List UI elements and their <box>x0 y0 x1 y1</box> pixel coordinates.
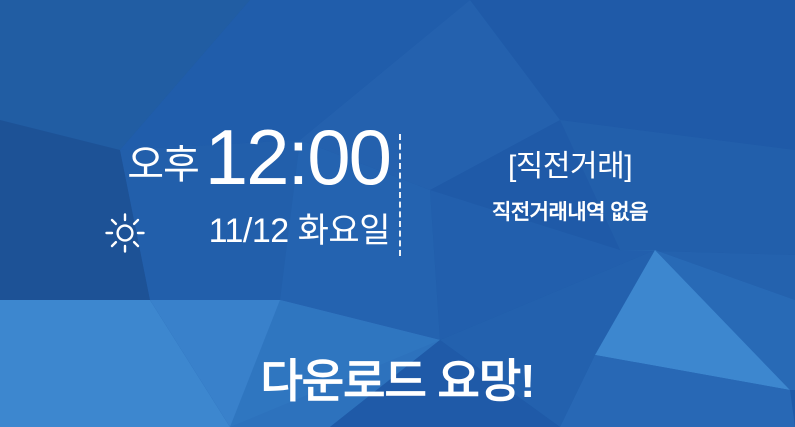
recent-trade-panel[interactable]: [직전거래] 직전거래내역 없음 <box>420 150 720 260</box>
content-layer: 오후 12:00 11/ <box>0 0 795 427</box>
clock-widget[interactable]: 오후 12:00 11/ <box>60 118 390 268</box>
widget-screen: 오후 12:00 11/ <box>0 0 795 427</box>
clock-date: 11/12 화요일 <box>209 214 390 248</box>
clock-meridiem: 오후 <box>127 145 199 185</box>
recent-trade-title: [직전거래] <box>420 150 720 183</box>
clock-time-row: 오후 12:00 <box>60 118 390 200</box>
clock-date-row: 11/12 화요일 <box>60 204 390 258</box>
download-cta[interactable]: 다운로드 요망! <box>0 356 795 407</box>
clock-time: 12:00 <box>205 118 390 196</box>
sun-icon <box>104 212 146 254</box>
download-cta-text: 다운로드 요망! <box>260 355 534 407</box>
vertical-dashed-divider <box>399 134 401 256</box>
recent-trade-empty-message: 직전거래내역 없음 <box>420 201 720 224</box>
